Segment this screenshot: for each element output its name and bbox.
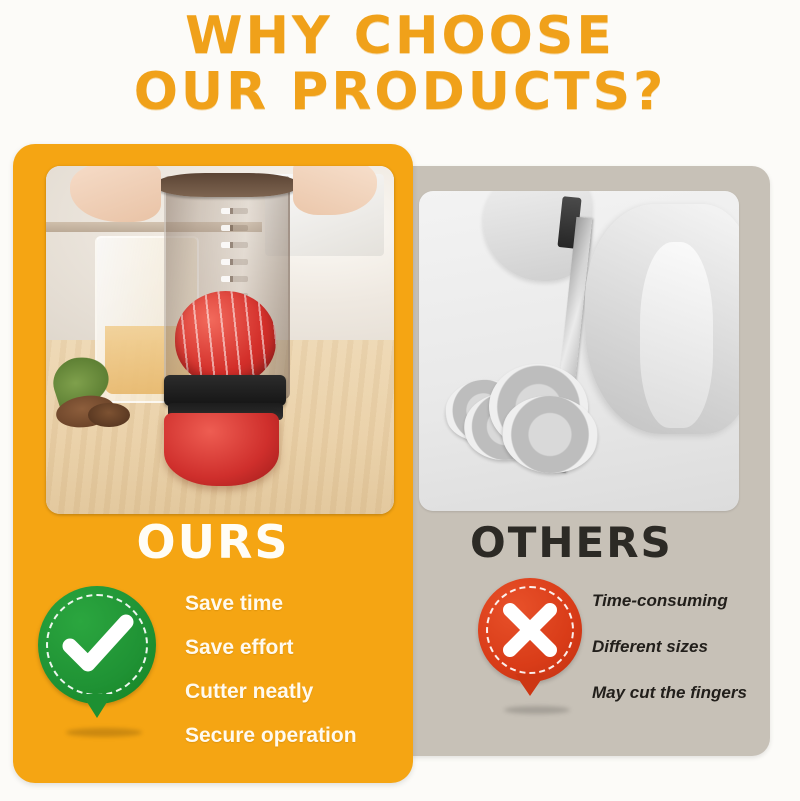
check-icon bbox=[38, 586, 156, 704]
list-item: Time-consuming bbox=[592, 590, 792, 611]
list-item: Different sizes bbox=[592, 636, 792, 657]
cross-badge bbox=[478, 578, 596, 714]
slicer-blade-ring bbox=[164, 375, 286, 406]
nut bbox=[88, 403, 130, 427]
list-item: May cut the fingers bbox=[592, 682, 792, 703]
tick-mark bbox=[221, 259, 248, 265]
list-item: Save time bbox=[185, 592, 405, 616]
knife-cutting-orange-illustration bbox=[419, 191, 739, 511]
tick-mark bbox=[221, 225, 248, 231]
sliced-apple-top bbox=[175, 291, 276, 385]
page-title-line-2: OUR PRODUCTS? bbox=[0, 64, 800, 120]
others-photo bbox=[419, 191, 739, 511]
check-glyph bbox=[38, 586, 156, 704]
apple-bottom bbox=[164, 413, 279, 486]
others-feature-list: Time-consuming Different sizes May cut t… bbox=[592, 590, 792, 728]
apple-slicer-illustration bbox=[46, 166, 394, 514]
page-title: WHY CHOOSE OUR PRODUCTS? bbox=[0, 8, 800, 120]
badge-shadow bbox=[504, 706, 570, 714]
comparison-infographic: WHY CHOOSE OUR PRODUCTS? bbox=[0, 0, 800, 801]
cross-glyph bbox=[478, 578, 582, 682]
list-item: Cutter neatly bbox=[185, 680, 405, 704]
ours-title: OURS bbox=[13, 516, 413, 568]
tick-mark bbox=[221, 208, 248, 214]
list-item: Secure operation bbox=[185, 724, 405, 748]
ours-photo bbox=[46, 166, 394, 514]
list-item: Save effort bbox=[185, 636, 405, 660]
cross-icon bbox=[478, 578, 582, 682]
tick-mark bbox=[221, 276, 248, 282]
others-title: OTHERS bbox=[470, 518, 720, 568]
tick-mark bbox=[221, 242, 248, 248]
cup-rim bbox=[154, 173, 300, 197]
badge-shadow bbox=[66, 728, 142, 737]
check-badge bbox=[38, 586, 170, 736]
ours-feature-list: Save time Save effort Cutter neatly Secu… bbox=[185, 592, 405, 768]
page-title-line-1: WHY CHOOSE bbox=[185, 6, 615, 66]
finger bbox=[640, 242, 714, 428]
